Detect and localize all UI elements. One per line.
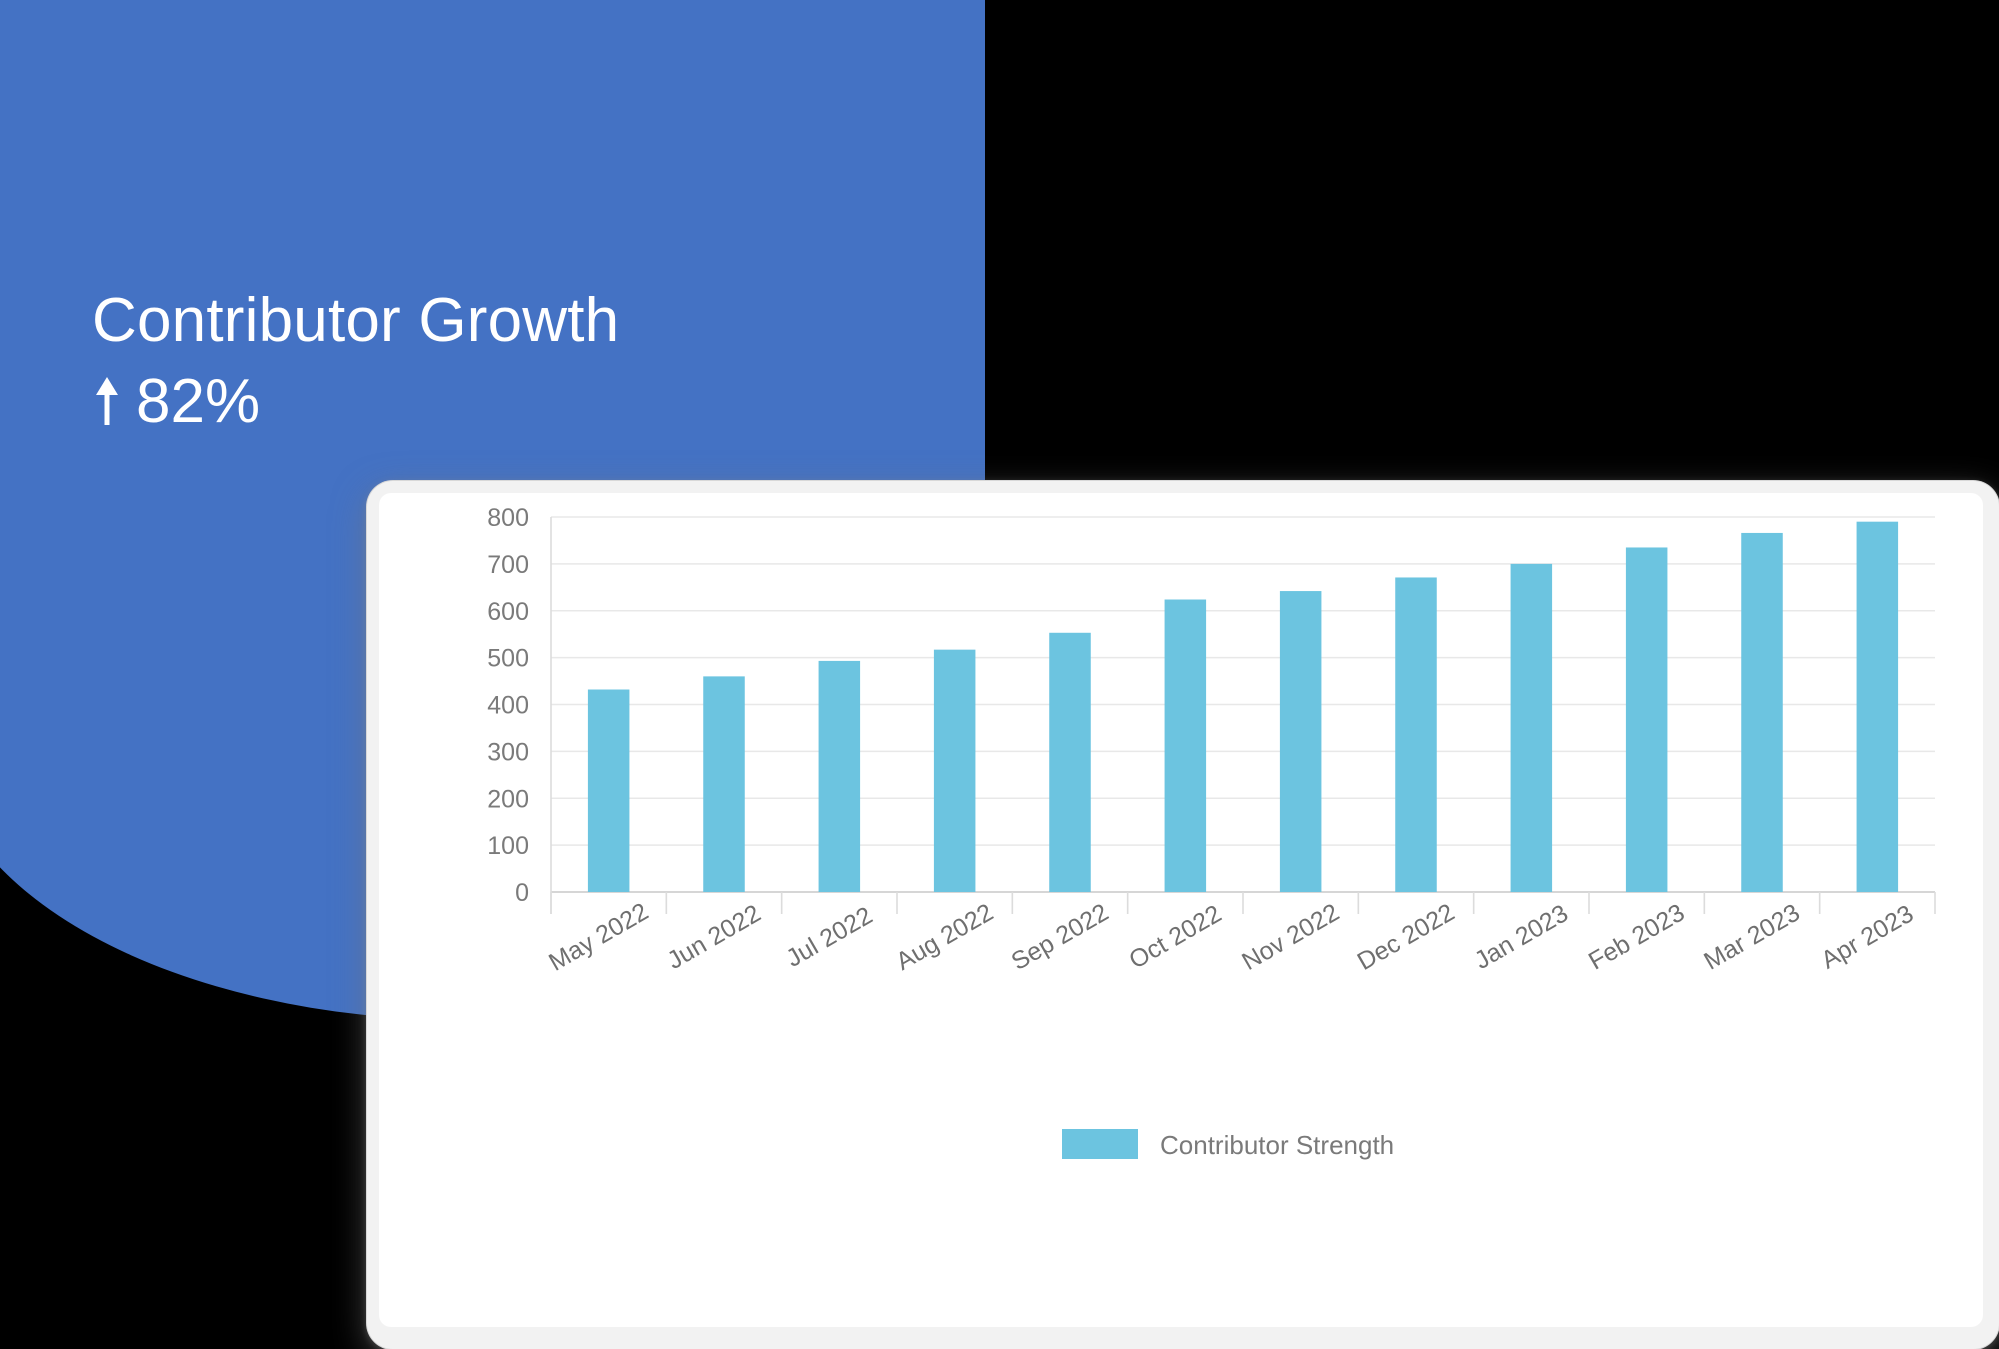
x-axis-tick-label: Feb 2023 [1584,899,1689,976]
bar[interactable] [588,690,630,893]
chart-canvas: 0100200300400500600700800May 2022Jun 202… [379,493,1983,1327]
y-axis-tick-label: 500 [487,645,529,673]
x-axis-tick-label: May 2022 [544,897,653,976]
bar[interactable] [1741,533,1783,892]
device-frame: 0100200300400500600700800May 2022Jun 202… [367,481,1999,1349]
bar[interactable] [1280,591,1322,892]
bar[interactable] [1857,522,1899,892]
y-axis-tick-label: 0 [515,879,529,907]
page-title: Contributor Growth [92,288,619,355]
x-axis-tick-label: Mar 2023 [1699,899,1804,976]
bar[interactable] [703,676,745,892]
bar-chart: 0100200300400500600700800May 2022Jun 202… [379,493,1983,1327]
y-axis-tick-label: 400 [487,692,529,720]
growth-metric-value: 82% [136,369,260,436]
y-axis-tick-label: 300 [487,738,529,766]
x-axis-tick-label: Nov 2022 [1237,898,1344,976]
arrow-up-icon [92,371,122,433]
screenshot-root: Contributor Growth 82% 01002003004005006… [0,0,1999,1349]
x-axis-tick-label: Dec 2022 [1353,898,1460,976]
bar[interactable] [1511,564,1553,892]
y-axis-tick-label: 700 [487,551,529,579]
y-axis-tick-label: 100 [487,832,529,860]
device-screen: 0100200300400500600700800May 2022Jun 202… [379,493,1983,1327]
y-axis-tick-label: 800 [487,504,529,532]
x-axis-tick-label: Jan 2023 [1470,899,1573,975]
x-axis-tick-label: Sep 2022 [1007,898,1114,976]
bar[interactable] [1395,577,1437,892]
x-axis-tick-label: Aug 2022 [891,898,998,976]
bar[interactable] [934,650,976,892]
x-axis-tick-label: Jun 2022 [662,899,765,975]
bar[interactable] [819,661,861,892]
x-axis-tick-label: Apr 2023 [1816,900,1918,975]
legend-swatch[interactable] [1062,1129,1138,1159]
bar[interactable] [1165,600,1207,893]
headline-block: Contributor Growth 82% [92,288,619,436]
bar[interactable] [1626,547,1668,892]
legend-label[interactable]: Contributor Strength [1160,1130,1394,1160]
x-axis-tick-label: Jul 2022 [781,901,877,973]
growth-metric: 82% [92,369,619,436]
y-axis-tick-label: 200 [487,785,529,813]
x-axis-tick-label: Oct 2022 [1124,900,1226,975]
y-axis-tick-label: 600 [487,598,529,626]
bar[interactable] [1049,633,1091,892]
